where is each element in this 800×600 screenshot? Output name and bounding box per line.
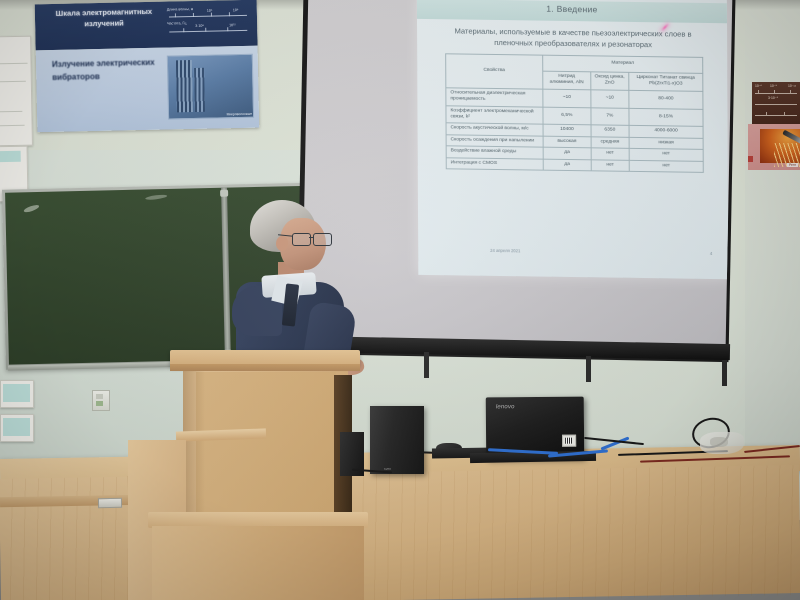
- lecture-hall-photo: Шкала электромагнитных излучений Длина в…: [0, 0, 800, 600]
- switch-indicator: [96, 401, 103, 406]
- table-cell-value: 6350: [591, 125, 629, 137]
- wall-sheet-top: [0, 36, 33, 147]
- poster-right-dark: 10⁻⁶ 10⁻⁹ 10⁻¹² 3·10⁻⁸: [752, 82, 800, 124]
- table-column-header: Нитрид алюминия, AlN: [543, 71, 591, 89]
- slide-footer-date: 24 апреля 2021: [490, 248, 520, 253]
- table-cell-value: 10400: [543, 125, 591, 137]
- wall-right-section: [745, 0, 800, 520]
- scale-axis-label-2: Частота, Гц: [167, 21, 186, 25]
- poster-right-pink: Рент: [748, 124, 800, 170]
- poster-photo-caption: Микроволновые: [227, 112, 253, 117]
- glasses-bridge: [309, 237, 313, 238]
- slide-table: СвойстваМатериалНитрид алюминия, AlNОкси…: [445, 53, 704, 173]
- desk-front-panel: [0, 465, 800, 600]
- scale-tick-label: 3·10⁸: [195, 24, 204, 28]
- table-column-header: Оксид цинка, ZnO: [590, 72, 628, 90]
- screen-leg: [586, 356, 591, 382]
- glasses-lens-right: [313, 233, 332, 246]
- table-cell-property: Коэффициент электромеханической связи, k…: [446, 105, 543, 124]
- screen-leg: [722, 360, 727, 386]
- poster-photo-antenna: Микроволновые: [167, 54, 254, 120]
- light-switch[interactable]: [92, 390, 110, 411]
- poster-xray-image: [760, 129, 800, 163]
- table-cell-value: да: [543, 147, 591, 159]
- table-column-header: Цирконат Титанат свинца Pb(ZrxTi1-x)O3: [629, 72, 703, 91]
- plastic-bag: [700, 432, 744, 454]
- sheet-line: [0, 125, 25, 126]
- podium-base: [152, 526, 364, 600]
- table-row: Интеграция с CMOSданетнет: [446, 157, 703, 172]
- glasses-icon: [292, 233, 328, 245]
- sheet-line: [0, 63, 28, 65]
- power-socket[interactable]: [98, 498, 122, 508]
- table-cell-value: нет: [591, 148, 629, 160]
- desk-wood-grain: [0, 465, 800, 600]
- scale-tick-label: 10⁻⁶: [755, 84, 762, 88]
- sheet-line: [0, 81, 26, 82]
- poster-color-tab: [748, 156, 753, 162]
- wall-sheet-lower-2: [0, 414, 34, 442]
- table-cell-value: нет: [591, 159, 629, 171]
- scale-tick-label: 10¹²: [229, 23, 235, 27]
- podium-side-shadow: [183, 368, 205, 518]
- antenna-array: [193, 89, 253, 114]
- poster-subtitle: Излучение электрических вибраторов: [52, 56, 163, 84]
- table-header-properties: Свойства: [446, 54, 543, 89]
- sheet-teal-band: [3, 384, 30, 402]
- laptop-brand-label: lenovo: [496, 404, 515, 410]
- sheet-teal-band: [3, 418, 30, 436]
- speaker: sven: [370, 406, 424, 474]
- table-cell-value: 6,5%: [543, 107, 591, 125]
- chalkboard-glare: [145, 194, 167, 201]
- podium-inner-panel: [196, 372, 336, 512]
- presenter-ear: [276, 236, 288, 251]
- table-cell-value: средняя: [591, 137, 629, 149]
- slide-subtitle: Материалы, используемые в качестве пьезо…: [439, 25, 707, 51]
- podium-top-edge: [170, 364, 360, 371]
- table-cell-value: ~10: [543, 89, 591, 107]
- scale-tick-label: 10⁶: [207, 9, 213, 13]
- antenna-tower: [176, 60, 193, 112]
- poster-body: Излучение электрических вибраторов Микро…: [36, 46, 260, 133]
- table-cell-value: 8-15%: [629, 108, 703, 127]
- chalkboard-glare: [23, 204, 40, 214]
- table-header-row: СвойстваМатериал: [446, 54, 703, 74]
- switch-rocker: [96, 394, 103, 399]
- poster-header-band: Шкала электромагнитных излучений Длина в…: [35, 0, 258, 50]
- poster-header-title: Шкала электромагнитных излучений: [49, 6, 159, 30]
- sheet-teal-band: [0, 151, 21, 162]
- sheet-line: [0, 111, 22, 112]
- scale-tick-label: 10⁹: [233, 8, 239, 12]
- wall-sheet-lower-1: [0, 380, 34, 408]
- poster-scale-diagram: Длина волны, м 10⁶ 10⁹ Частота, Гц 3·10⁸…: [165, 6, 252, 44]
- table-cell-value: да: [543, 159, 591, 171]
- projected-slide: 1. Введение Материалы, используемые в ка…: [417, 0, 728, 279]
- table-cell-value: 7%: [591, 107, 629, 125]
- scale-tick-label: 10⁻¹²: [788, 84, 796, 88]
- table-cell-value: 80-400: [629, 90, 703, 109]
- screen-leg: [424, 352, 429, 378]
- laptop-sticker: [562, 435, 576, 447]
- table-cell-property: Относительная диэлектрическая проницаемо…: [446, 88, 543, 107]
- poster-electromagnetic-scale: Шкала электромагнитных излучений Длина в…: [35, 0, 260, 132]
- scale-tick-label: 10⁻⁹: [770, 84, 777, 88]
- scale-tick-label: 3·10⁻⁸: [768, 96, 778, 100]
- table-cell-value: высокая: [543, 136, 591, 148]
- table-cell-value: нет: [629, 160, 703, 172]
- scale-axis-label: Длина волны, м: [167, 7, 194, 12]
- glasses-lens-left: [292, 233, 311, 246]
- poster-tag-label: Рент: [787, 163, 798, 167]
- hinge-knob: [220, 190, 228, 197]
- table-cell-property: Интеграция с CMOS: [446, 157, 543, 170]
- slide-page-number: 4: [710, 251, 712, 256]
- table-cell-value: ~10: [591, 90, 629, 108]
